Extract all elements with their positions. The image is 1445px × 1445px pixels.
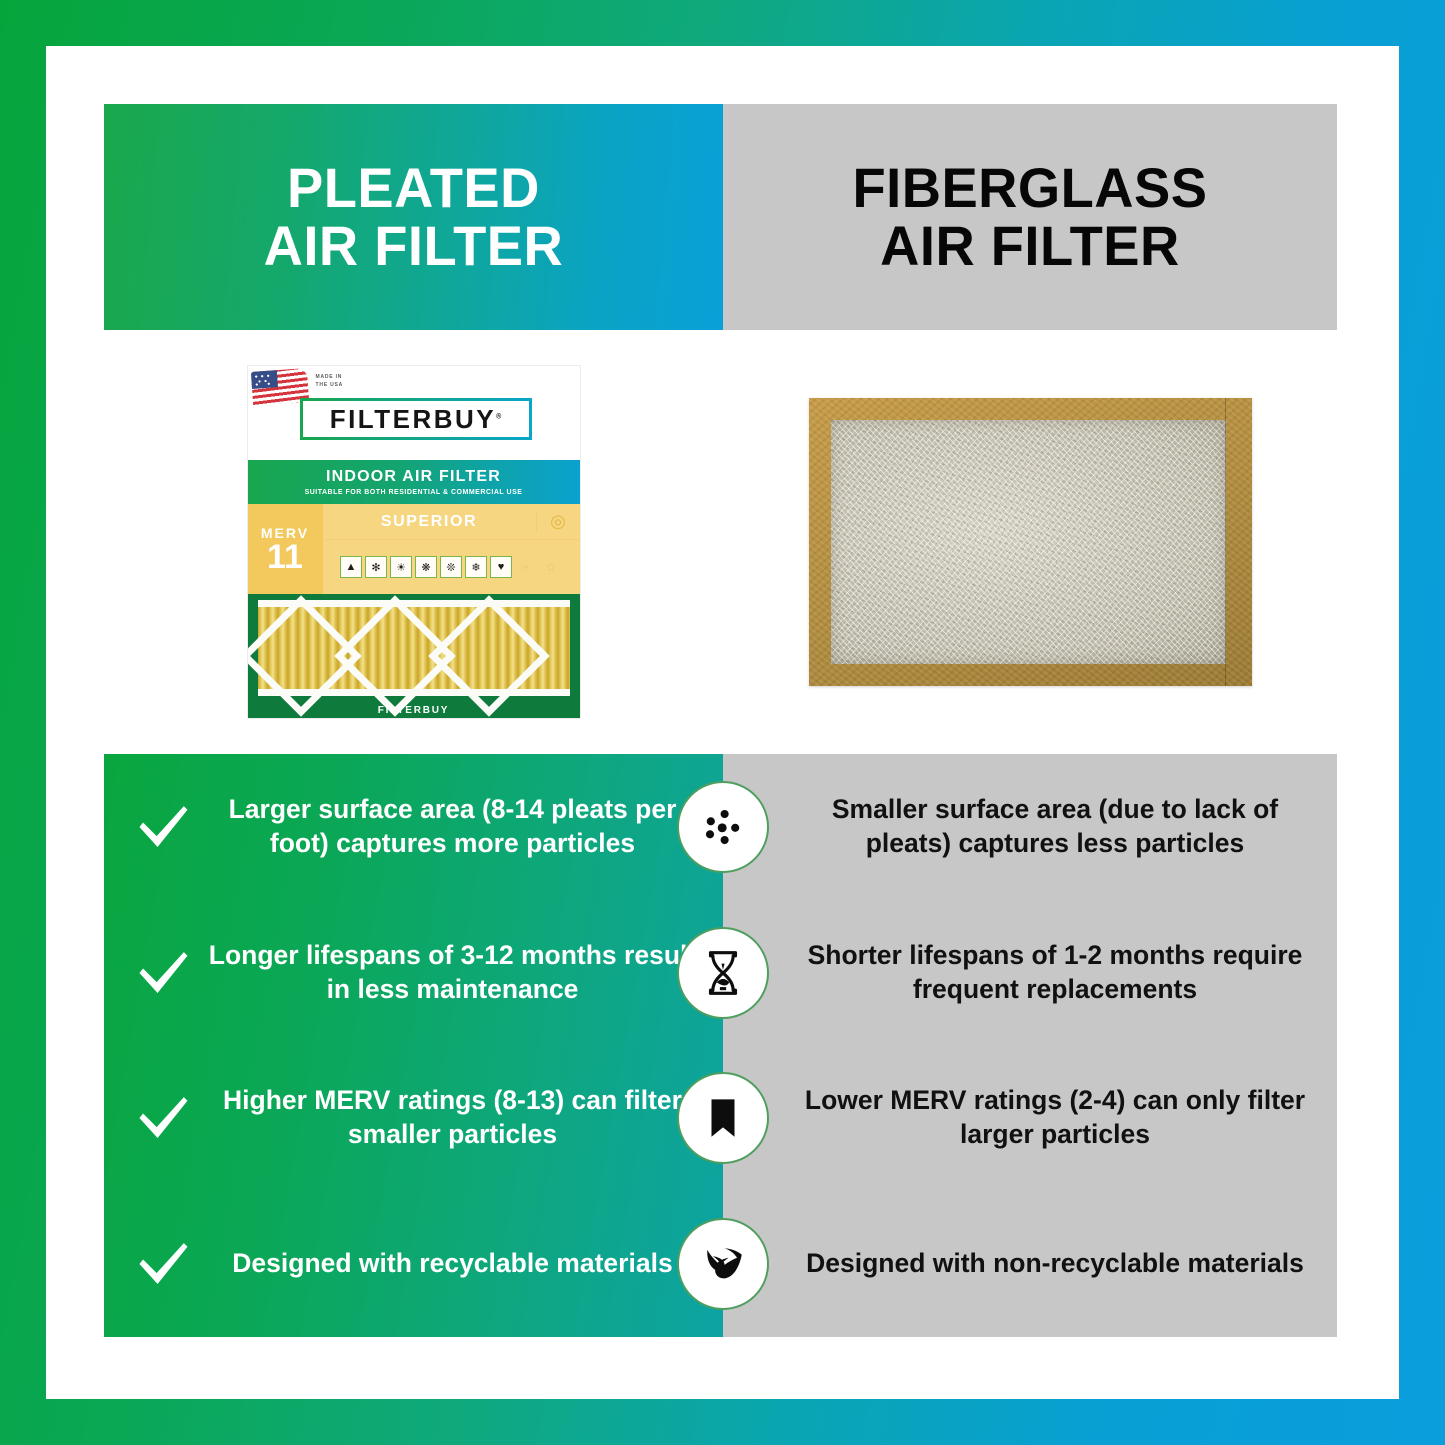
row-1-pleated-cell: Larger surface area (8-14 pleats per foo… <box>104 754 723 900</box>
bookmark-icon <box>677 1072 769 1164</box>
row-1-fiberglass-cell: Smaller surface area (due to lack of ple… <box>723 754 1337 900</box>
row-2-pleated-cell: Longer lifespans of 3-12 months result i… <box>104 900 723 1046</box>
box-band-title: INDOOR AIR FILTER <box>326 468 501 486</box>
box-pleated-media-graphic: FILTERBUY <box>248 594 580 718</box>
product-images-band: MADE INTHE USA FILTERBUY® INDOOR AIR FIL… <box>104 330 1337 754</box>
row-2-fiberglass-cell: Shorter lifespans of 1-2 months require … <box>723 900 1337 1046</box>
row-3-fiberglass-text: Lower MERV ratings (2-4) can only filter… <box>803 1084 1307 1152</box>
box-top-section: MADE INTHE USA FILTERBUY® <box>248 366 580 460</box>
fiberglass-product-cell <box>723 330 1337 754</box>
leaf-glyph <box>696 1237 750 1291</box>
comparison-row: Larger surface area (8-14 pleats per foo… <box>104 754 1337 900</box>
row-2-fiberglass-text: Shorter lifespans of 1-2 months require … <box>803 939 1307 1007</box>
row-2-pleated-text: Longer lifespans of 3-12 months result i… <box>202 939 703 1007</box>
merv-details: SUPERIOR ◎ ▲ ✻ ☀ ❋ ❊ ❄ ♥ ⦿ ✿ <box>323 504 580 594</box>
bacteria-icon: ✻ <box>365 556 387 578</box>
row-4-pleated-text: Designed with recyclable materials <box>202 1247 703 1281</box>
header-pleated-line1: PLEATED <box>287 156 540 219</box>
brand-trademark-symbol: ® <box>496 413 501 420</box>
hourglass-glyph <box>696 946 750 1000</box>
header-pleated-line2: AIR FILTER <box>264 214 564 277</box>
header-pleated-title: PLEATED AIR FILTER <box>264 159 564 274</box>
made-in-usa-label: MADE INTHE USA <box>316 374 344 389</box>
particles-icon <box>677 781 769 873</box>
row-3-pleated-cell: Higher MERV ratings (8-13) can filter sm… <box>104 1046 723 1192</box>
virus-icon: ☀ <box>390 556 412 578</box>
box-footer-brand: FILTERBUY <box>248 705 580 716</box>
mold-spore-icon: ❊ <box>440 556 462 578</box>
comparison-rows: Larger surface area (8-14 pleats per foo… <box>104 754 1337 1337</box>
merv-value: 11 <box>267 541 303 573</box>
comparison-row: Higher MERV ratings (8-13) can filter sm… <box>104 1046 1337 1192</box>
row-1-pleated-text: Larger surface area (8-14 pleats per foo… <box>202 793 703 861</box>
comparison-row: Designed with recyclable materials Desig… <box>104 1191 1337 1337</box>
header-fiberglass-title: FIBERGLASS AIR FILTER <box>853 159 1208 274</box>
check-icon <box>132 1233 194 1295</box>
row-4-fiberglass-cell: Designed with non-recyclable materials <box>723 1191 1337 1337</box>
pleated-product-cell: MADE INTHE USA FILTERBUY® INDOOR AIR FIL… <box>104 330 723 754</box>
box-merv-section: MERV 11 SUPERIOR ◎ ▲ ✻ ☀ ❋ ❊ ❄ <box>248 504 580 594</box>
comparison-table: Larger surface area (8-14 pleats per foo… <box>104 754 1337 1337</box>
header-fiberglass-line1: FIBERGLASS <box>853 156 1208 219</box>
bookmark-glyph <box>696 1091 750 1145</box>
feature-icons-row: ▲ ✻ ☀ ❋ ❊ ❄ ♥ ⦿ ✿ <box>323 540 580 594</box>
smoke-icon: ♥ <box>490 556 512 578</box>
comparison-headers: PLEATED AIR FILTER FIBERGLASS AIR FILTER <box>104 104 1337 330</box>
fiberglass-mesh-texture <box>831 420 1226 664</box>
tier-name: SUPERIOR <box>323 513 536 531</box>
row-3-fiberglass-cell: Lower MERV ratings (2-4) can only filter… <box>723 1046 1337 1192</box>
fiberglass-frame-seam <box>1225 398 1226 686</box>
particles-glyph <box>696 800 750 854</box>
check-icon <box>132 1087 194 1149</box>
header-fiberglass-line2: AIR FILTER <box>880 214 1180 277</box>
merv-badge: MERV 11 <box>248 504 323 594</box>
tier-row: SUPERIOR ◎ <box>323 504 580 540</box>
brand-name: FILTERBUY® <box>330 404 502 435</box>
fiberglass-filter-image <box>809 398 1252 686</box>
box-band-subtitle: SUITABLE FOR BOTH RESIDENTIAL & COMMERCI… <box>305 489 523 496</box>
header-pleated: PLEATED AIR FILTER <box>104 104 723 330</box>
pollen-icon: ❋ <box>415 556 437 578</box>
odor-icon-disabled: ⦿ <box>515 556 537 578</box>
header-fiberglass: FIBERGLASS AIR FILTER <box>723 104 1337 330</box>
leaf-icon <box>677 1218 769 1310</box>
smog-icon-disabled: ✿ <box>540 556 562 578</box>
brand-plate: FILTERBUY® <box>300 398 532 440</box>
filterbuy-box-image: MADE INTHE USA FILTERBUY® INDOOR AIR FIL… <box>248 366 580 718</box>
certification-seal-icon: ◎ <box>536 511 580 532</box>
row-4-pleated-cell: Designed with recyclable materials <box>104 1191 723 1337</box>
check-icon <box>132 942 194 1004</box>
row-4-fiberglass-text: Designed with non-recyclable materials <box>803 1247 1307 1281</box>
check-icon <box>132 796 194 858</box>
row-1-fiberglass-text: Smaller surface area (due to lack of ple… <box>803 793 1307 861</box>
row-3-pleated-text: Higher MERV ratings (8-13) can filter sm… <box>202 1084 703 1152</box>
comparison-row: Longer lifespans of 3-12 months result i… <box>104 900 1337 1046</box>
pet-dander-icon: ❄ <box>465 556 487 578</box>
hourglass-icon <box>677 927 769 1019</box>
box-indoor-band: INDOOR AIR FILTER SUITABLE FOR BOTH RESI… <box>248 460 580 504</box>
dust-icon: ▲ <box>340 556 362 578</box>
